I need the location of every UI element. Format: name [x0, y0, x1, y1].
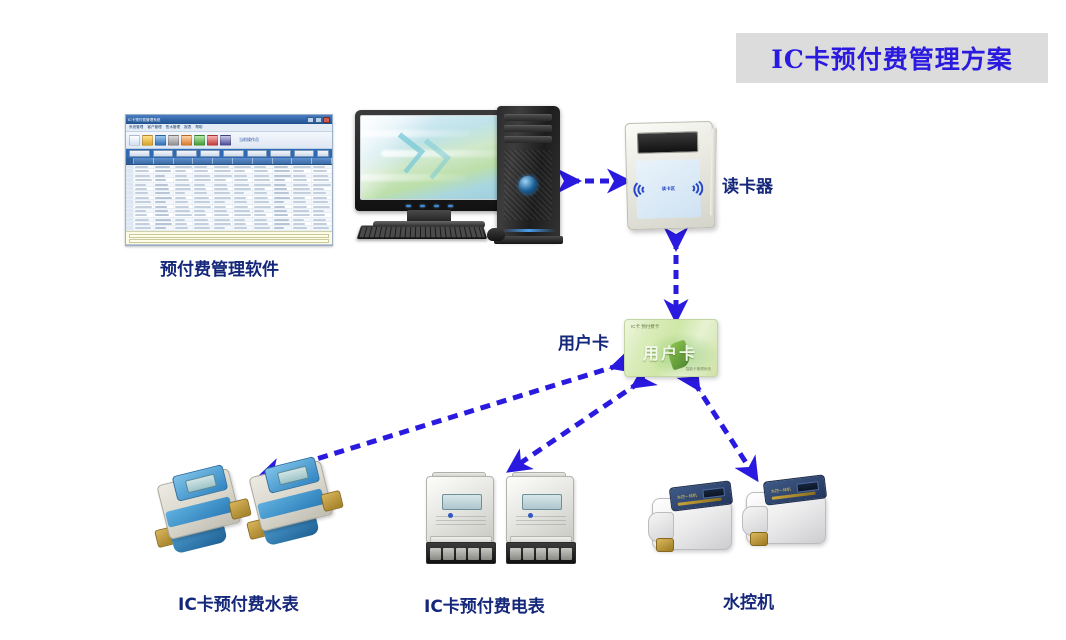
table-cell — [174, 196, 194, 199]
table-cell — [126, 169, 134, 172]
table-cell — [193, 169, 213, 172]
window-titlebar: IC卡预付费管理系统 — [126, 115, 332, 124]
data-table[interactable] — [126, 165, 332, 231]
table-cell — [193, 196, 213, 199]
table-cell — [213, 226, 233, 229]
table-cell — [126, 165, 134, 168]
table-cell — [312, 196, 332, 199]
table-cell — [292, 191, 312, 194]
table-cell — [154, 200, 174, 203]
table-cell — [273, 174, 293, 177]
terminal-pin — [468, 548, 479, 560]
button-export[interactable] — [294, 150, 315, 157]
table-cell — [134, 178, 154, 181]
table-cell — [253, 200, 273, 203]
table-cell — [193, 183, 213, 186]
meter-legend — [516, 513, 566, 525]
water-controller-device: 水控一体机 — [742, 476, 838, 560]
computer-illustration — [355, 106, 585, 246]
button-delete[interactable] — [176, 150, 197, 157]
table-header-cell[interactable] — [292, 158, 312, 164]
card-reader-device: 读卡区 — [625, 121, 716, 230]
table-cell — [154, 169, 174, 172]
table-cell — [312, 226, 332, 229]
input-area[interactable] — [126, 231, 332, 244]
table-cell — [273, 226, 293, 229]
table-cell — [233, 226, 253, 229]
table-cell — [312, 187, 332, 190]
meter-legend — [436, 513, 486, 525]
table-cell — [126, 222, 134, 225]
search-input[interactable] — [129, 234, 329, 238]
table-cell — [126, 209, 134, 212]
table-cell — [273, 213, 293, 216]
table-cell — [292, 174, 312, 177]
label-user-card: 用户卡 — [558, 329, 609, 354]
table-cell — [292, 169, 312, 172]
table-cell — [233, 187, 253, 190]
table-header-cell[interactable] — [213, 158, 233, 164]
table-cell — [312, 165, 332, 168]
table-cell — [126, 191, 134, 194]
card-bottom-text: 智能卡管理系统 — [686, 367, 711, 372]
table-cell — [312, 222, 332, 225]
table-cell — [154, 165, 174, 168]
table-cell — [253, 187, 273, 190]
table-cell — [233, 169, 253, 172]
table-cell — [126, 200, 134, 203]
power-led-icon — [406, 205, 411, 207]
electric-meter-device — [500, 472, 584, 570]
screen-streak — [360, 130, 471, 137]
close-icon[interactable] — [323, 117, 330, 123]
card-top-text: IC卡 预付费卡 — [631, 324, 659, 330]
label-electric-meter: IC卡预付费电表 — [424, 592, 545, 617]
status-right: NumLk — [154, 246, 166, 247]
table-cell — [174, 183, 194, 186]
button-edit[interactable] — [153, 150, 174, 157]
table-cell — [174, 213, 194, 216]
table-cell — [126, 187, 134, 190]
table-cell — [174, 218, 194, 221]
table-cell — [253, 222, 273, 225]
table-cell — [292, 226, 312, 229]
table-cell — [213, 209, 233, 212]
table-cell — [213, 213, 233, 216]
table-cell — [273, 218, 293, 221]
table-cell — [193, 187, 213, 190]
table-header-cell[interactable] — [273, 158, 293, 164]
table-cell — [154, 187, 174, 190]
table-cell — [134, 218, 154, 221]
button-add[interactable] — [129, 150, 150, 157]
table-cell — [273, 165, 293, 168]
table-cell — [292, 196, 312, 199]
button-report[interactable] — [270, 150, 291, 157]
table-cell — [273, 187, 293, 190]
table-cell — [213, 165, 233, 168]
maximize-icon[interactable] — [315, 117, 322, 123]
status-left: 就绪 — [129, 245, 136, 246]
connector-card-water-controller — [694, 382, 752, 472]
query-icon[interactable] — [207, 135, 218, 146]
table-cell — [193, 226, 213, 229]
table-cell — [193, 200, 213, 203]
table-cell — [253, 209, 273, 212]
menu-item-help[interactable]: 帮助 — [195, 125, 202, 130]
terminal-pin — [548, 548, 559, 560]
table-cell — [174, 205, 194, 208]
title-text: IC卡预付费管理方案 — [771, 40, 1013, 76]
table-cell — [312, 169, 332, 172]
table-cell — [193, 222, 213, 225]
controller-panel-text: 水控一体机 — [677, 493, 698, 501]
table-cell — [134, 191, 154, 194]
screen-streak — [360, 174, 466, 181]
table-cell — [154, 209, 174, 212]
table-cell — [312, 191, 332, 194]
menu-item-sales[interactable]: 售水管理 — [166, 125, 180, 130]
table-cell — [126, 226, 134, 229]
table-cell — [134, 165, 154, 168]
table-cell — [253, 191, 273, 194]
table-cell — [233, 213, 253, 216]
drive-bay — [504, 136, 552, 143]
controller-panel-text: 水控一体机 — [771, 487, 792, 495]
title-banner: IC卡预付费管理方案 — [736, 33, 1048, 83]
table-cell — [174, 174, 194, 177]
table-cell — [154, 174, 174, 177]
table-cell — [134, 205, 154, 208]
table-header-cell[interactable] — [193, 158, 213, 164]
table-cell — [134, 213, 154, 216]
minimize-icon[interactable] — [307, 117, 314, 123]
table-cell — [312, 178, 332, 181]
user-icon[interactable] — [181, 135, 192, 146]
menu-item-customer[interactable]: 客户管理 — [147, 125, 161, 130]
table-cell — [273, 183, 293, 186]
table-cell — [154, 226, 174, 229]
table-cell — [292, 187, 312, 190]
table-cell — [154, 183, 174, 186]
menu-item-report[interactable]: 报表 — [184, 125, 191, 130]
keyboard — [357, 225, 488, 239]
terminal-pin — [561, 548, 572, 560]
table-cell — [134, 209, 154, 212]
computer-tower — [497, 106, 560, 240]
table-cell — [312, 183, 332, 186]
terminal-pin — [430, 548, 441, 560]
label-water-controller: 水控机 — [723, 588, 774, 613]
table-cell — [292, 222, 312, 225]
table-cell — [134, 183, 154, 186]
table-cell — [233, 218, 253, 221]
water-controller-device: 水控一体机 — [648, 482, 744, 566]
power-button-icon[interactable] — [519, 176, 537, 194]
table-cell — [273, 205, 293, 208]
controller-outlet — [750, 532, 768, 546]
button-return-card[interactable] — [247, 150, 268, 157]
toolbar[interactable]: 当前操作员 — [126, 132, 332, 149]
table-cell — [292, 209, 312, 212]
table-cell — [253, 196, 273, 199]
menu-item-system[interactable]: 系统管理 — [129, 125, 143, 130]
power-led-icon — [434, 205, 439, 207]
terminal-block — [506, 542, 576, 564]
table-cell — [174, 209, 194, 212]
table-cell — [174, 187, 194, 190]
window-title: IC卡预付费管理系统 — [128, 117, 160, 122]
table-cell — [233, 209, 253, 212]
water-meter-device — [156, 470, 260, 566]
table-cell — [253, 183, 273, 186]
water-meter-device — [248, 462, 352, 558]
table-cell — [134, 226, 154, 229]
table-header-cell[interactable] — [253, 158, 273, 164]
reader-lcd-screen — [637, 131, 699, 154]
table-cell — [134, 169, 154, 172]
terminal-block — [426, 542, 496, 564]
window-controls[interactable] — [307, 117, 330, 123]
table-cell — [134, 187, 154, 190]
table-cell — [253, 226, 273, 229]
terminal-pin — [456, 548, 467, 560]
meter-lcd-screen — [442, 494, 482, 510]
table-cell — [253, 165, 273, 168]
table-cell — [253, 213, 273, 216]
table-cell — [154, 191, 174, 194]
table-cell — [126, 205, 134, 208]
table-cell — [273, 178, 293, 181]
table-cell — [312, 200, 332, 203]
table-cell — [273, 196, 293, 199]
monitor — [355, 110, 503, 211]
connector-card-water-meter — [268, 365, 620, 474]
table-cell — [174, 165, 194, 168]
table-cell — [174, 226, 194, 229]
table-cell — [193, 213, 213, 216]
table-cell — [126, 218, 134, 221]
table-cell — [213, 183, 233, 186]
table-cell — [126, 183, 134, 186]
table-cell — [134, 222, 154, 225]
table-cell — [273, 222, 293, 225]
table-cell — [213, 191, 233, 194]
table-cell — [253, 169, 273, 172]
controller-lcd-screen — [796, 481, 819, 493]
label-software: 预付费管理软件 — [160, 255, 279, 280]
table-cell — [292, 183, 312, 186]
table-cell — [312, 205, 332, 208]
reader-card-pad[interactable]: 读卡区 — [636, 159, 701, 219]
card-center-text: 用户卡 — [643, 340, 697, 364]
table-cell — [253, 205, 273, 208]
table-cell — [233, 205, 253, 208]
table-cell — [213, 178, 233, 181]
table-cell — [134, 174, 154, 177]
table-cell — [193, 209, 213, 212]
table-cell — [233, 191, 253, 194]
terminal-pin — [536, 548, 547, 560]
table-cell — [233, 183, 253, 186]
meter-shell — [506, 476, 574, 544]
table-cell — [126, 213, 134, 216]
mouse — [487, 228, 505, 241]
table-header-cell[interactable] — [233, 158, 253, 164]
print-icon[interactable] — [168, 135, 179, 146]
action-button-row[interactable] — [126, 149, 332, 158]
table-header-cell[interactable] — [312, 158, 332, 164]
terminal-pin — [481, 548, 492, 560]
table-cell — [292, 218, 312, 221]
meter-lcd-screen — [522, 494, 562, 510]
table-cell — [134, 196, 154, 199]
table-header — [126, 158, 332, 165]
power-led-icon — [448, 205, 453, 207]
electric-meter-device — [420, 472, 504, 570]
table-cell — [253, 218, 273, 221]
controller-outlet — [656, 538, 674, 552]
label-water-meter: IC卡预付费水表 — [178, 590, 299, 615]
memo-input[interactable] — [129, 239, 329, 243]
table-cell — [273, 200, 293, 203]
table-cell — [273, 169, 293, 172]
table-header-cell[interactable] — [134, 158, 154, 164]
toolbar-note: 当前操作员 — [239, 137, 259, 143]
open-icon[interactable] — [142, 135, 153, 146]
controller-lcd-screen — [702, 487, 725, 499]
table-cell — [154, 178, 174, 181]
user-card-graphic: IC卡 预付费卡 用户卡 智能卡管理系统 — [624, 319, 718, 377]
terminal-pin — [510, 548, 521, 560]
table-cell — [154, 222, 174, 225]
table-cell — [213, 205, 233, 208]
tower-light — [501, 229, 556, 232]
table-cell — [312, 218, 332, 221]
diagram-canvas: IC卡预付费管理方案 IC卡预付费管理系统 系统管理 — [0, 0, 1066, 640]
save-icon[interactable] — [155, 135, 166, 146]
table-cell — [193, 205, 213, 208]
table-cell — [126, 196, 134, 199]
settings-icon[interactable] — [220, 135, 231, 146]
table-cell — [253, 178, 273, 181]
table-cell — [312, 174, 332, 177]
table-header-cell[interactable] — [126, 158, 134, 164]
table-cell — [193, 218, 213, 221]
power-led-icon — [420, 205, 425, 207]
table-cell — [213, 218, 233, 221]
table-cell — [193, 178, 213, 181]
table-cell — [126, 178, 134, 181]
table-cell — [193, 165, 213, 168]
table-cell — [312, 209, 332, 212]
drive-bay — [504, 125, 552, 132]
table-cell — [213, 196, 233, 199]
table-cell — [213, 174, 233, 177]
drive-bay — [504, 114, 552, 121]
rfid-wave-icon: 读卡区 — [641, 177, 696, 200]
table-cell — [174, 200, 194, 203]
table-cell — [292, 205, 312, 208]
button-exit[interactable] — [317, 150, 329, 157]
table-cell — [174, 178, 194, 181]
table-cell — [273, 209, 293, 212]
terminal-pin — [443, 548, 454, 560]
table-cell — [154, 218, 174, 221]
table-cell — [174, 191, 194, 194]
status-center: 记录数 — [140, 245, 150, 246]
rfid-label: 读卡区 — [662, 186, 676, 192]
reader-side-edge — [710, 128, 717, 216]
terminal-pin — [523, 548, 534, 560]
software-window[interactable]: IC卡预付费管理系统 系统管理 客户管理 售水管理 报表 帮助 当前操作员 — [125, 114, 333, 246]
card-icon[interactable] — [194, 135, 205, 146]
table-cell — [193, 174, 213, 177]
keyboard-keys — [359, 227, 484, 237]
table-cell — [213, 169, 233, 172]
table-cell — [253, 174, 273, 177]
button-query[interactable] — [200, 150, 221, 157]
table-cell — [233, 196, 253, 199]
table-cell — [292, 200, 312, 203]
meter-outlet-pipe — [320, 490, 344, 512]
table-cell — [213, 200, 233, 203]
status-bar: 就绪 记录数 NumLk — [126, 244, 332, 246]
table-cell — [154, 196, 174, 199]
table-header-cell[interactable] — [154, 158, 174, 164]
table-cell — [174, 169, 194, 172]
table-cell — [233, 178, 253, 181]
table-cell — [312, 213, 332, 216]
table-cell — [193, 191, 213, 194]
connector-card-electric-meter — [516, 382, 640, 466]
table-header-cell[interactable] — [174, 158, 194, 164]
table-cell — [292, 165, 312, 168]
meter-shell — [426, 476, 494, 544]
table-cell — [213, 222, 233, 225]
table-cell — [154, 205, 174, 208]
button-recharge[interactable] — [223, 150, 244, 157]
table-cell — [233, 165, 253, 168]
table-cell — [134, 200, 154, 203]
table-cell — [273, 191, 293, 194]
menubar[interactable]: 系统管理 客户管理 售水管理 报表 帮助 — [126, 124, 332, 132]
table-cell — [174, 222, 194, 225]
table-cell — [213, 187, 233, 190]
table-cell — [233, 174, 253, 177]
label-card-reader: 读卡器 — [722, 172, 773, 197]
monitor-screen — [360, 115, 498, 200]
table-cell — [154, 213, 174, 216]
table-cell — [126, 174, 134, 177]
new-icon[interactable] — [129, 135, 140, 146]
table-cell — [233, 200, 253, 203]
table-cell — [233, 222, 253, 225]
table-cell — [292, 213, 312, 216]
table-cell — [292, 178, 312, 181]
